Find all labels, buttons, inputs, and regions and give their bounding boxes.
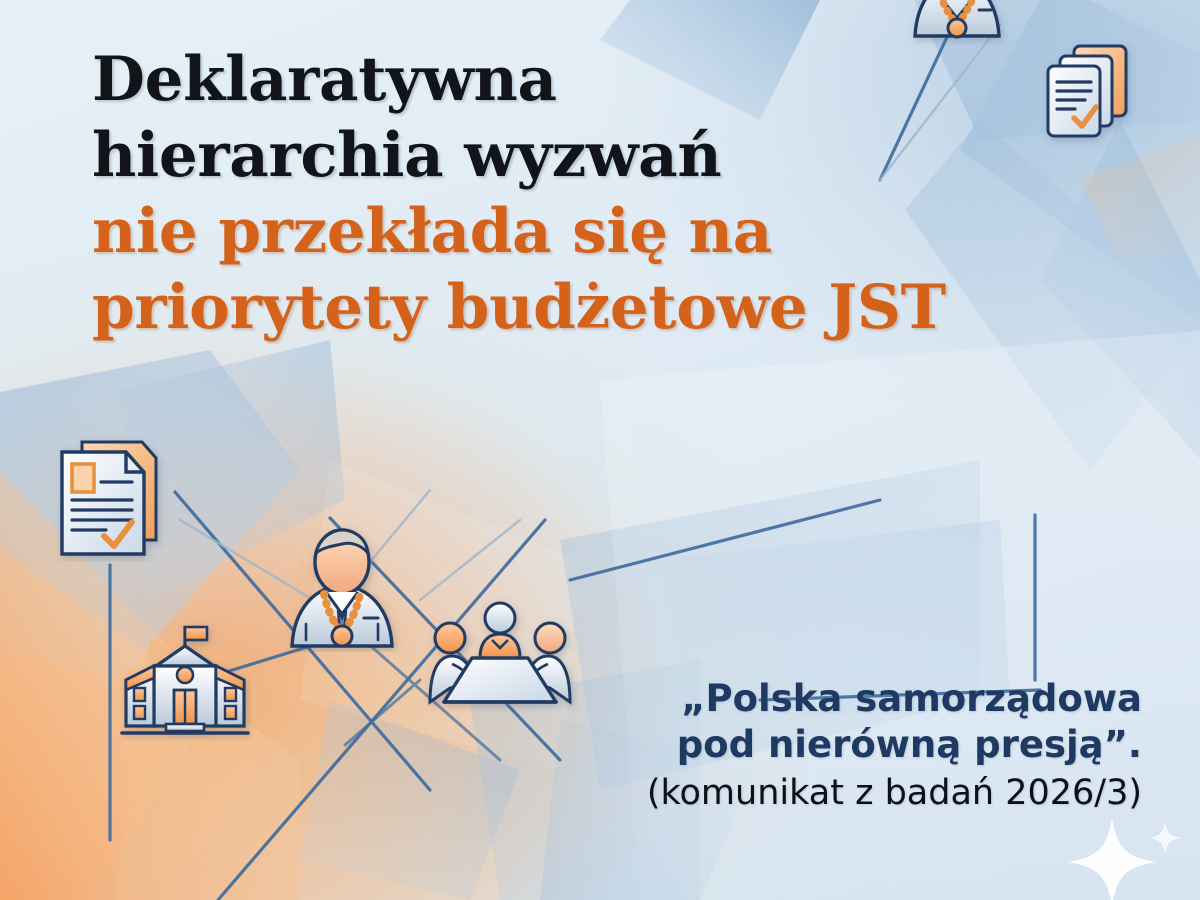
headline-line-4: priorytety budżetowe JST: [92, 270, 1112, 346]
source-citation: „Polska samorządowa pod nierówną presją”…: [502, 676, 1142, 814]
source-title-line-2: pod nierówną presją”.: [502, 722, 1142, 768]
slide-canvas: Deklaratywna hierarchia wyzwań nie przek…: [0, 0, 1200, 900]
headline-line-1: Deklaratywna: [92, 42, 1112, 118]
source-title: „Polska samorządowa pod nierówną presją”…: [502, 676, 1142, 768]
source-title-line-1: „Polska samorządowa: [502, 676, 1142, 722]
document-check-icon: [52, 436, 170, 562]
mayor-chain-icon: [276, 520, 408, 652]
town-hall-icon: [118, 622, 252, 740]
headline-line-2: hierarchia wyzwań: [92, 118, 1112, 194]
headline-line-3: nie przekłada się na: [92, 194, 1112, 270]
source-subtitle: (komunikat z badań 2026/3): [502, 772, 1142, 814]
headline: Deklaratywna hierarchia wyzwań nie przek…: [92, 42, 1112, 346]
